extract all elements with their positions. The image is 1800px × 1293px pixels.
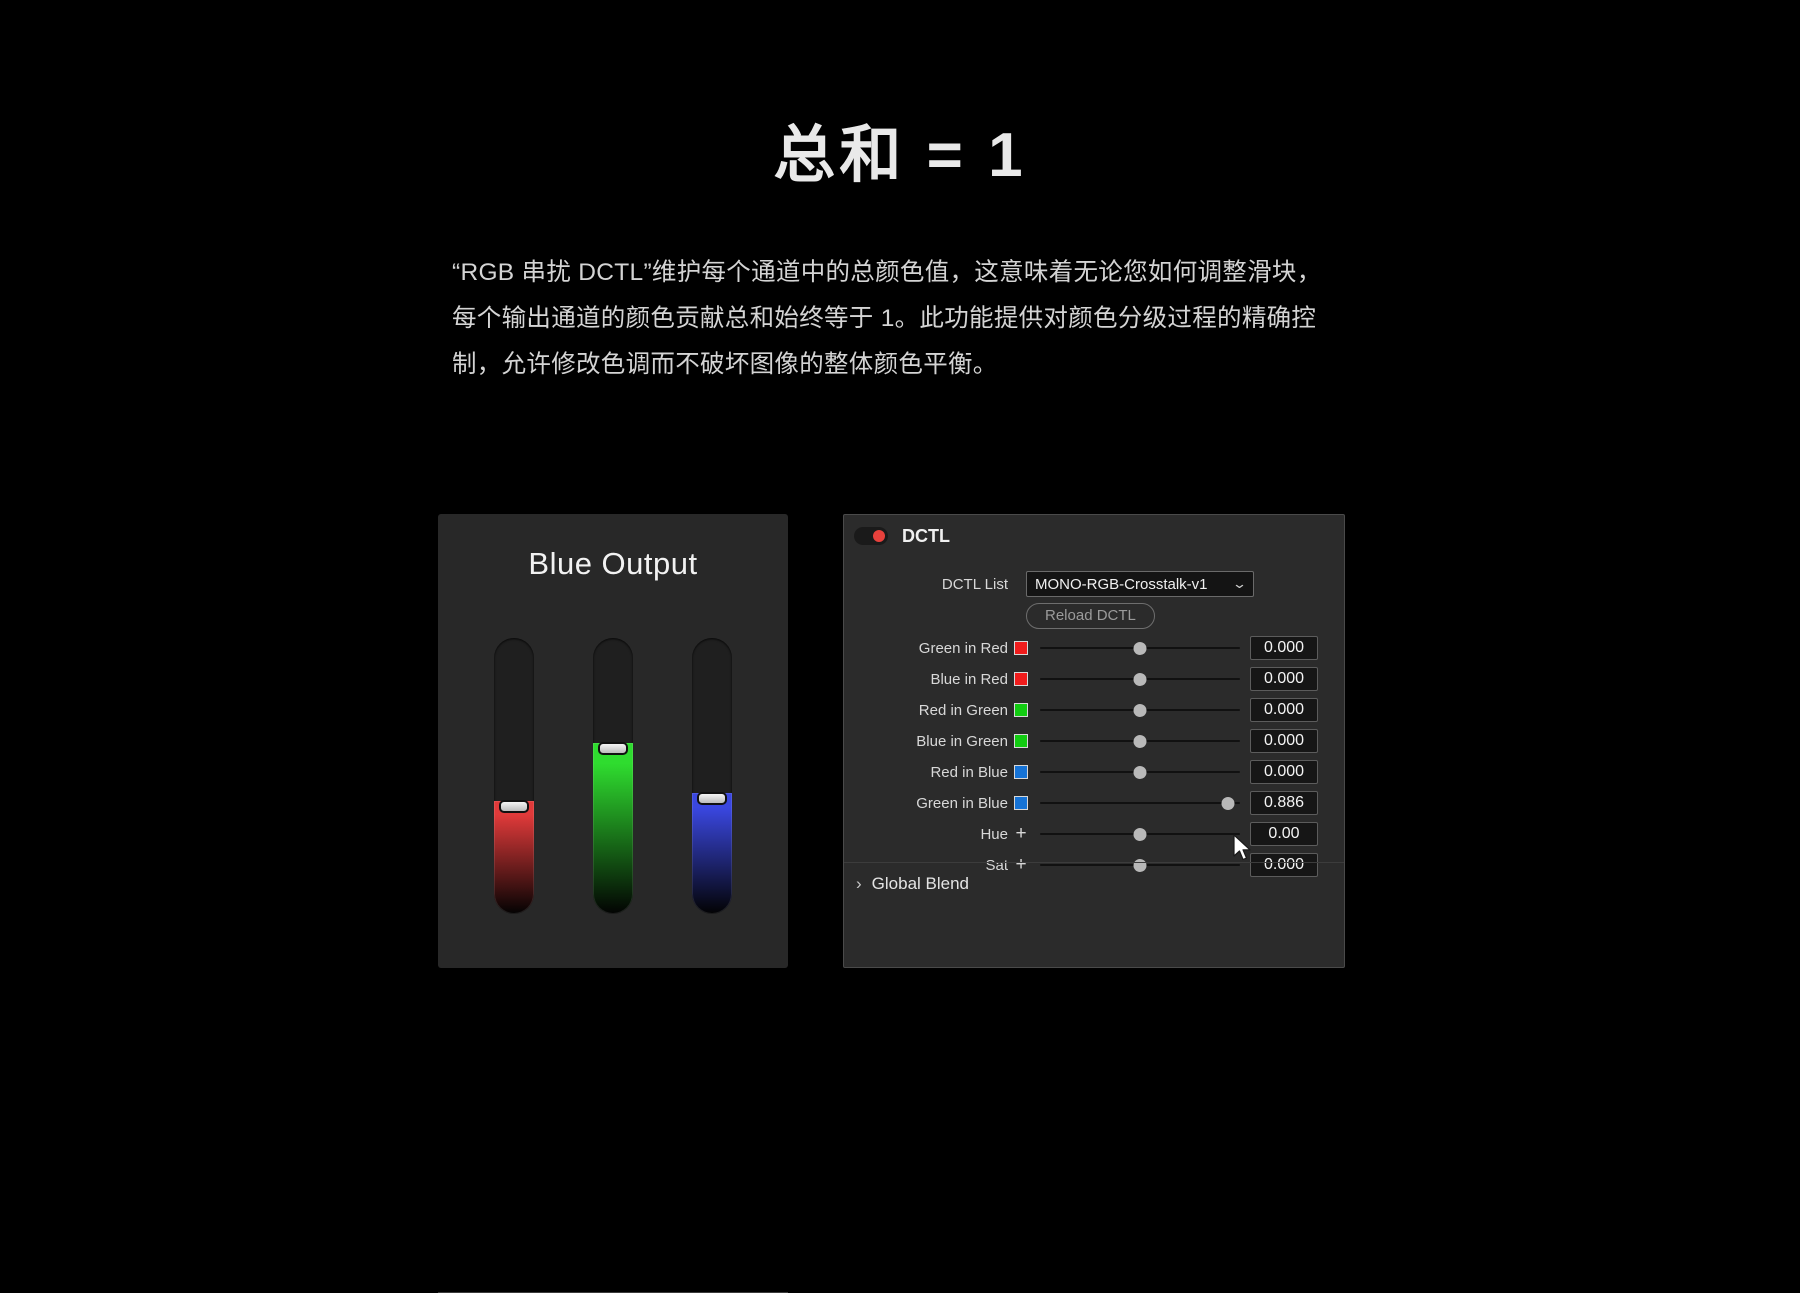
slider-control[interactable] — [1040, 792, 1240, 814]
meter-red-fill — [494, 801, 534, 914]
blue-output-panel: Blue Output — [438, 514, 788, 968]
page-title: 总和 = 1 — [0, 104, 1800, 194]
slider-thumb[interactable] — [1134, 735, 1147, 748]
meter-blue-handle[interactable] — [697, 792, 727, 805]
slider-control[interactable] — [1040, 699, 1240, 721]
channel-color-swatch — [1014, 641, 1028, 655]
chevron-right-icon: › — [856, 874, 862, 894]
dctl-panel-title: DCTL — [902, 526, 950, 547]
dctl-panel: DCTL DCTL List MONO-RGB-Crosstalk-v1 ⌄ R… — [843, 514, 1345, 968]
slider-thumb[interactable] — [1222, 797, 1235, 810]
meter-blue-fill — [692, 793, 732, 914]
slider-thumb[interactable] — [1134, 704, 1147, 717]
meter-green-handle[interactable] — [598, 742, 628, 755]
meter-green-fill — [593, 743, 633, 914]
slider-control[interactable] — [1040, 668, 1240, 690]
slider-value-field[interactable]: 0.000 — [1250, 698, 1318, 722]
meter-red[interactable] — [494, 638, 534, 914]
dctl-panel-header: DCTL — [844, 515, 1344, 557]
slider-row: Red in Green0.000 — [844, 697, 1344, 723]
slider-label: Red in Blue — [844, 764, 1014, 781]
slider-track[interactable] — [1040, 802, 1240, 804]
slider-control[interactable] — [1040, 637, 1240, 659]
global-blend-label: Global Blend — [872, 874, 969, 894]
slider-value-field[interactable]: 0.886 — [1250, 791, 1318, 815]
slider-thumb[interactable] — [1134, 673, 1147, 686]
slider-label: Blue in Red — [844, 671, 1014, 688]
slider-label: Hue — [844, 826, 1014, 843]
slider-row: Green in Red0.000 — [844, 635, 1344, 661]
slider-label: Green in Red — [844, 640, 1014, 657]
dctl-list-value: MONO-RGB-Crosstalk-v1 — [1035, 576, 1208, 593]
plus-icon: + — [1014, 827, 1028, 841]
slider-value-field[interactable]: 0.000 — [1250, 636, 1318, 660]
slider-thumb[interactable] — [1134, 828, 1147, 841]
slider-control[interactable] — [1040, 730, 1240, 752]
slider-thumb[interactable] — [1134, 642, 1147, 655]
meter-group — [438, 514, 788, 968]
slider-value-field[interactable]: 0.00 — [1250, 822, 1318, 846]
slider-row: Blue in Green0.000 — [844, 728, 1344, 754]
reload-dctl-button[interactable]: Reload DCTL — [1026, 603, 1155, 629]
slider-label: Green in Blue — [844, 795, 1014, 812]
slider-label: Red in Green — [844, 702, 1014, 719]
slider-thumb[interactable] — [1134, 766, 1147, 779]
dctl-list-dropdown[interactable]: MONO-RGB-Crosstalk-v1 ⌄ — [1026, 571, 1254, 597]
chevron-down-icon: ⌄ — [1232, 576, 1247, 592]
channel-color-swatch — [1014, 734, 1028, 748]
slider-value-field[interactable]: 0.000 — [1250, 667, 1318, 691]
dctl-list-label: DCTL List — [844, 576, 1014, 593]
channel-color-swatch — [1014, 703, 1028, 717]
dctl-list-row: DCTL List MONO-RGB-Crosstalk-v1 ⌄ — [844, 571, 1344, 597]
channel-color-swatch — [1014, 672, 1028, 686]
global-blend-section[interactable]: › Global Blend — [844, 863, 1344, 905]
slider-row: Hue+0.00 — [844, 821, 1344, 847]
meter-red-handle[interactable] — [499, 800, 529, 813]
dctl-enable-toggle[interactable] — [854, 527, 888, 545]
meter-green[interactable] — [593, 638, 633, 914]
slider-row: Blue in Red0.000 — [844, 666, 1344, 692]
meter-blue[interactable] — [692, 638, 732, 914]
channel-color-swatch — [1014, 765, 1028, 779]
slider-control[interactable] — [1040, 761, 1240, 783]
slider-row: Green in Blue0.886 — [844, 790, 1344, 816]
slider-row: Red in Blue0.000 — [844, 759, 1344, 785]
channel-color-swatch — [1014, 796, 1028, 810]
slider-label: Blue in Green — [844, 733, 1014, 750]
description-paragraph: “RGB 串扰 DCTL”维护每个通道中的总颜色值，这意味着无论您如何调整滑块，… — [452, 250, 1334, 388]
slider-control[interactable] — [1040, 823, 1240, 845]
reload-dctl-row: Reload DCTL — [844, 603, 1344, 629]
toggle-knob-icon — [873, 530, 885, 542]
slider-value-field[interactable]: 0.000 — [1250, 729, 1318, 753]
slider-value-field[interactable]: 0.000 — [1250, 760, 1318, 784]
